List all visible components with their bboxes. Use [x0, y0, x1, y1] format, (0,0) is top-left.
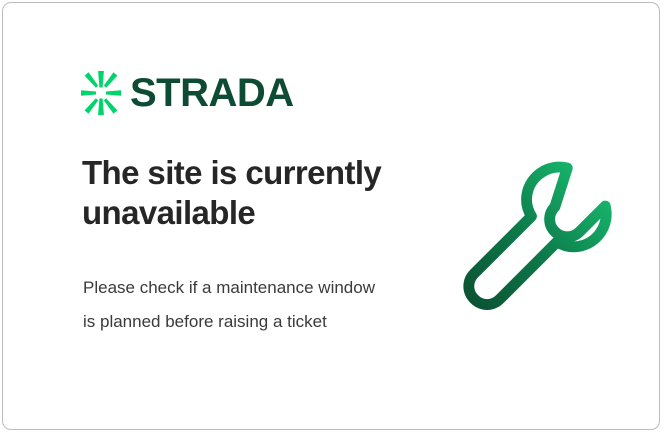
- brand-wordmark: STRADA: [130, 73, 294, 113]
- brand-lockup: STRADA: [81, 71, 294, 115]
- page-title: The site is currently unavailable: [82, 153, 422, 234]
- strada-starburst-icon: [81, 71, 121, 115]
- status-page-card: STRADA The site is currently unavailable…: [2, 2, 660, 430]
- wrench-icon: [458, 158, 613, 313]
- page-description: Please check if a maintenance window is …: [83, 271, 383, 339]
